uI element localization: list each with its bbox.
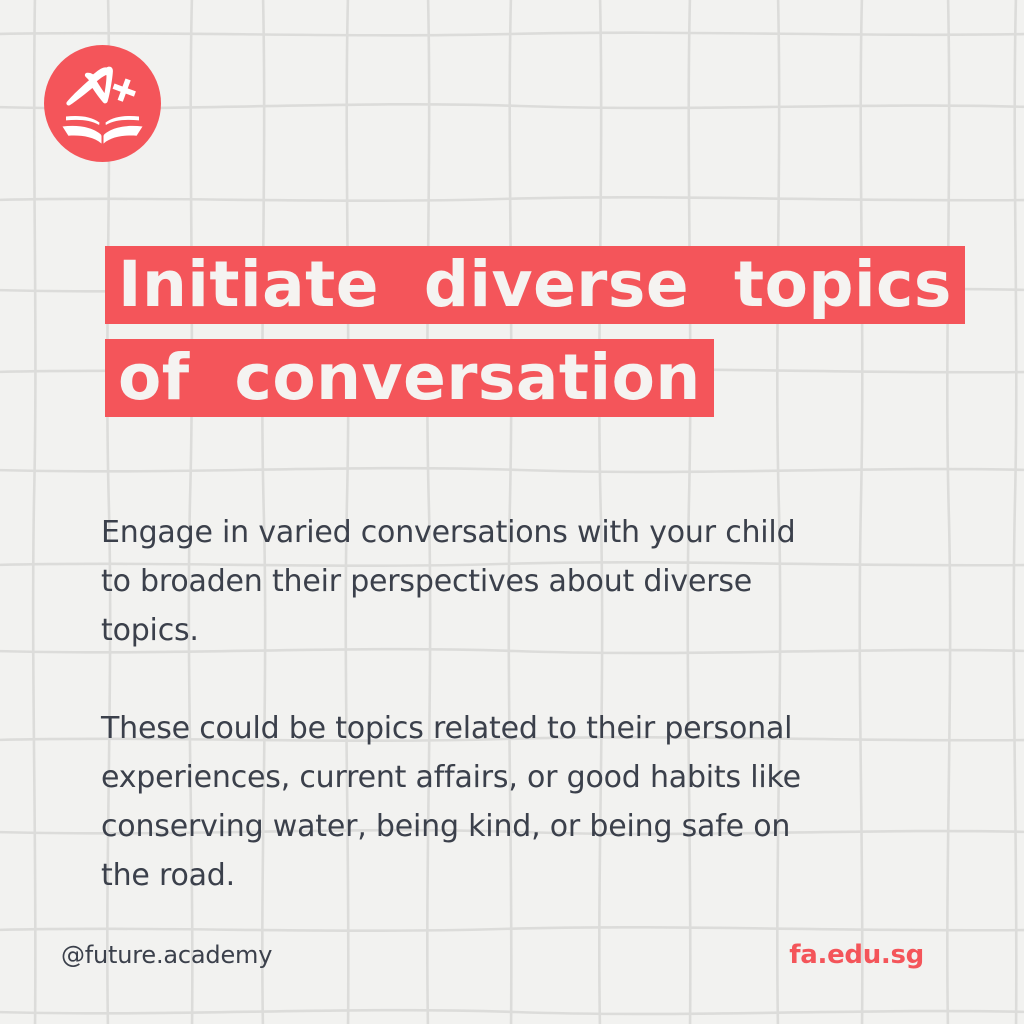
headline-line-1: Initiate diverse topics <box>105 246 965 324</box>
body-copy: Engage in varied conversations with your… <box>101 478 816 930</box>
social-handle[interactable]: @future.academy <box>61 938 272 972</box>
a-plus-book-logo-icon <box>44 45 161 162</box>
headline: Initiate diverse topics of conversation <box>105 246 965 417</box>
footer: @future.academy fa.edu.sg <box>0 938 1024 988</box>
poster-canvas: Initiate diverse topics of conversation … <box>0 0 1024 1024</box>
body-paragraph-1: Engage in varied conversations with your… <box>101 508 816 655</box>
body-paragraph-2: These could be topics related to their p… <box>101 704 816 900</box>
headline-line-2: of conversation <box>105 339 714 417</box>
website-url[interactable]: fa.edu.sg <box>789 938 924 972</box>
